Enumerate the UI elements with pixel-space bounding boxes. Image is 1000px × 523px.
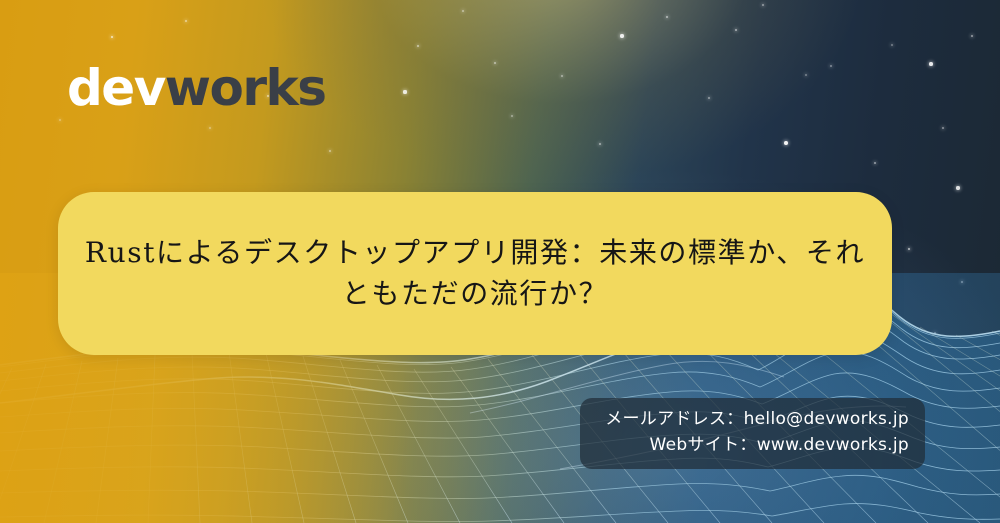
- star-dot-icon: [762, 4, 764, 6]
- star-dot-icon: [830, 65, 832, 67]
- star-dot-icon: [929, 62, 933, 66]
- star-dot-icon: [462, 10, 464, 12]
- logo-text-works: works: [165, 59, 326, 117]
- star-dot-icon: [417, 45, 419, 47]
- contact-info-box: メールアドレス：hello@devworks.jp Webサイト：www.dev…: [580, 398, 925, 469]
- star-dot-icon: [494, 62, 496, 64]
- star-dot-icon: [329, 150, 331, 152]
- title-card: Rustによるデスクトップアプリ開発：未来の標準か、それともただの流行か？: [58, 192, 892, 355]
- star-dot-icon: [185, 20, 187, 22]
- star-dot-icon: [59, 119, 61, 121]
- star-dot-icon: [209, 127, 211, 129]
- promo-banner: devworks Rustによるデスクトップアプリ開発：未来の標準か、それともた…: [0, 0, 1000, 523]
- contact-website-line: Webサイト：www.devworks.jp: [596, 432, 909, 458]
- star-dot-icon: [784, 141, 788, 145]
- star-dot-icon: [620, 34, 623, 37]
- star-dot-icon: [735, 29, 738, 32]
- star-dot-icon: [908, 248, 911, 251]
- page-title: Rustによるデスクトップアプリ開発：未来の標準か、それともただの流行か？: [84, 233, 866, 314]
- star-dot-icon: [956, 186, 959, 189]
- star-dot-icon: [403, 90, 406, 93]
- star-dot-icon: [805, 74, 807, 76]
- star-dot-icon: [666, 16, 668, 18]
- star-dot-icon: [511, 115, 513, 117]
- star-dot-icon: [599, 143, 601, 145]
- star-dot-icon: [942, 127, 944, 129]
- star-dot-icon: [561, 75, 563, 77]
- star-dot-icon: [708, 97, 710, 99]
- contact-email-line: メールアドレス：hello@devworks.jp: [596, 406, 909, 432]
- star-dot-icon: [971, 35, 973, 37]
- star-dot-icon: [111, 36, 114, 39]
- star-dot-icon: [874, 162, 876, 164]
- logo-text-dev: dev: [67, 59, 165, 117]
- star-dot-icon: [891, 44, 893, 46]
- brand-logo: devworks: [67, 63, 326, 113]
